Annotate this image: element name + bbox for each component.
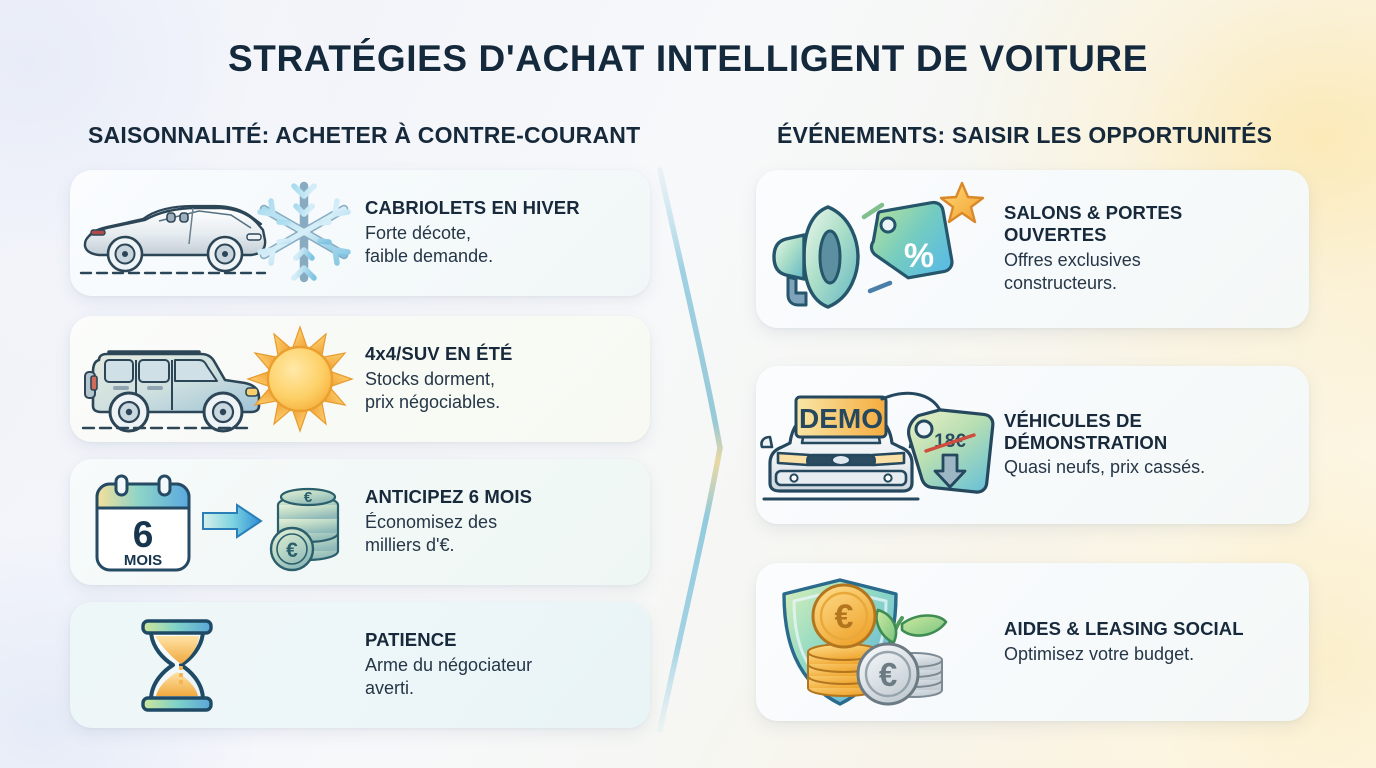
card-title: SALONS & PORTES OUVERTES — [1004, 202, 1291, 245]
card-anticipez-6-mois[interactable]: 6 MOIS — [70, 459, 650, 585]
tag-percent-symbol: % — [904, 237, 934, 275]
card-cabriolets-en-hiver[interactable]: CABRIOLETS EN HIVER Forte décote, faible… — [70, 170, 650, 296]
card-title: PATIENCE — [365, 629, 632, 651]
card-description: Forte décote, faible demande. — [365, 222, 632, 269]
coin-euro-symbol: € — [835, 598, 854, 636]
calendar-unit: MOIS — [123, 552, 161, 569]
calendar-number: 6 — [132, 514, 153, 555]
card-description: Quasi neufs, prix cassés. — [1004, 456, 1291, 479]
card-4x4-suv-en-ete[interactable]: 4x4/SUV EN ÉTÉ Stocks dorment, prix négo… — [70, 316, 650, 442]
demo-car-price-tag-icon: DEMO 18€ — [756, 366, 1004, 524]
card-description: Optimisez votre budget. — [1004, 643, 1291, 666]
card-text-block: SALONS & PORTES OUVERTES Offres exclusiv… — [1004, 202, 1309, 295]
demo-sign-label: DEMO — [799, 403, 883, 434]
column-heading-events: ÉVÉNEMENTS: SAISIR LES OPPORTUNITÉS — [777, 122, 1272, 149]
card-description: Offres exclusives constructeurs. — [1004, 249, 1291, 296]
calendar-arrow-coins-icon: 6 MOIS — [70, 459, 365, 585]
card-title: AIDES & LEASING SOCIAL — [1004, 618, 1291, 640]
card-title: VÉHICULES DE DÉMONSTRATION — [1004, 410, 1291, 453]
card-text-block: AIDES & LEASING SOCIAL Optimisez votre b… — [1004, 618, 1309, 666]
card-title: 4x4/SUV EN ÉTÉ — [365, 343, 632, 365]
page-title: STRATÉGIES D'ACHAT INTELLIGENT DE VOITUR… — [0, 38, 1376, 80]
svg-text:€: € — [879, 656, 897, 693]
card-salons-portes-ouvertes[interactable]: % SALONS & PORTES OUVERTES Offres exclus… — [756, 170, 1309, 328]
convertible-car-snowflake-icon — [70, 170, 365, 296]
card-text-block: PATIENCE Arme du négociateur averti. — [365, 629, 650, 700]
svg-text:€: € — [303, 489, 312, 506]
card-text-block: 4x4/SUV EN ÉTÉ Stocks dorment, prix négo… — [365, 343, 650, 414]
card-description: Économisez des milliers d'€. — [365, 511, 632, 558]
shield-euro-coins-leaf-icon: € € — [756, 563, 1004, 721]
card-patience[interactable]: PATIENCE Arme du négociateur averti. — [70, 602, 650, 728]
card-text-block: CABRIOLETS EN HIVER Forte décote, faible… — [365, 197, 650, 268]
suv-sun-icon — [70, 316, 365, 442]
card-title: ANTICIPEZ 6 MOIS — [365, 486, 632, 508]
card-text-block: VÉHICULES DE DÉMONSTRATION Quasi neufs, … — [1004, 410, 1309, 480]
card-title: CABRIOLETS EN HIVER — [365, 197, 632, 219]
svg-text:€: € — [286, 539, 298, 562]
hourglass-icon — [70, 602, 365, 728]
card-text-block: ANTICIPEZ 6 MOIS Économisez des milliers… — [365, 486, 650, 557]
card-description: Stocks dorment, prix négociables. — [365, 368, 632, 415]
card-description: Arme du négociateur averti. — [365, 654, 632, 701]
column-heading-seasonality: SAISONNALITÉ: ACHETER À CONTRE-COURANT — [88, 122, 640, 149]
card-vehicules-de-demonstration[interactable]: DEMO 18€ VÉHICULES DE DÉMONSTRATION Quas… — [756, 366, 1309, 524]
megaphone-discount-tag-star-icon: % — [756, 170, 1004, 328]
card-aides-leasing-social[interactable]: € € AIDES & LEASING SOCIAL Optimisez vot… — [756, 563, 1309, 721]
curved-bracket-connector — [648, 160, 758, 740]
